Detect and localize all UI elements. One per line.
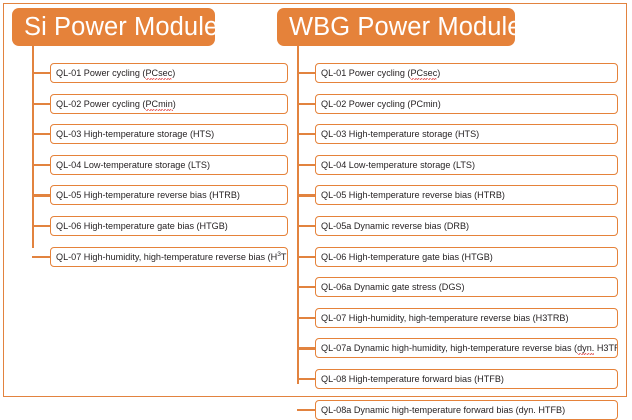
test-item-wbg-8[interactable]: QL-06a Dynamic gate stress (DGS) xyxy=(315,277,618,297)
test-item-si-3[interactable]: QL-03 High-temperature storage (HTS) xyxy=(50,124,288,144)
connector-stub-wbg-12 xyxy=(297,409,317,411)
connector-stub-si-1 xyxy=(32,72,52,74)
test-item-si-1[interactable]: QL-01 Power cycling (PCsec) xyxy=(50,63,288,83)
connector-trunk-si xyxy=(32,46,34,248)
column-header-wbg: WBG Power Module xyxy=(277,8,515,46)
spellcheck-word: PCsec xyxy=(410,68,437,78)
connector-stub-si-4 xyxy=(32,164,52,166)
test-item-si-2[interactable]: QL-02 Power cycling (PCmin) xyxy=(50,94,288,114)
column-header-si: Si Power Module xyxy=(12,8,215,46)
connector-stub-wbg-3 xyxy=(297,133,317,135)
connector-stub-wbg-1 xyxy=(297,72,317,74)
connector-stub-si-6 xyxy=(32,225,52,227)
connector-trunk-wbg xyxy=(297,46,299,384)
test-item-wbg-3[interactable]: QL-03 High-temperature storage (HTS) xyxy=(315,124,618,144)
connector-stub-wbg-11 xyxy=(297,378,317,380)
qualification-test-diagram: Si Power Module WBG Power Module QL-01 P… xyxy=(0,0,632,402)
test-item-wbg-7[interactable]: QL-06 High-temperature gate bias (HTGB) xyxy=(315,247,618,267)
test-item-wbg-1[interactable]: QL-01 Power cycling (PCsec) xyxy=(315,63,618,83)
test-item-wbg-5[interactable]: QL-05 High-temperature reverse bias (HTR… xyxy=(315,185,618,205)
spellcheck-word: PCmin xyxy=(145,99,172,109)
connector-stub-si-2 xyxy=(32,103,52,105)
connector-stub-wbg-7 xyxy=(297,256,317,258)
test-item-wbg-6[interactable]: QL-05a Dynamic reverse bias (DRB) xyxy=(315,216,618,236)
connector-stub-si-7 xyxy=(32,256,52,258)
test-item-si-4[interactable]: QL-04 Low-temperature storage (LTS) xyxy=(50,155,288,175)
connector-stub-wbg-4 xyxy=(297,164,317,166)
connector-stub-wbg-2 xyxy=(297,103,317,105)
connector-stub-wbg-8 xyxy=(297,286,317,288)
test-item-wbg-9[interactable]: QL-07 High-humidity, high-temperature re… xyxy=(315,308,618,328)
test-item-wbg-10[interactable]: QL-07a Dynamic high-humidity, high-tempe… xyxy=(315,338,618,358)
test-item-si-5[interactable]: QL-05 High-temperature reverse bias (HTR… xyxy=(50,185,288,205)
spellcheck-word: dyn. xyxy=(577,343,594,353)
connector-stub-si-5 xyxy=(32,194,52,196)
connector-stub-wbg-5 xyxy=(297,194,317,196)
test-item-wbg-11[interactable]: QL-08 High-temperature forward bias (HTF… xyxy=(315,369,618,389)
test-item-wbg-12[interactable]: QL-08a Dynamic high-temperature forward … xyxy=(315,400,618,420)
connector-stub-wbg-9 xyxy=(297,317,317,319)
connector-stub-wbg-10 xyxy=(297,347,317,349)
test-item-wbg-4[interactable]: QL-04 Low-temperature storage (LTS) xyxy=(315,155,618,175)
spellcheck-word: PCsec xyxy=(145,68,172,78)
connector-stub-wbg-6 xyxy=(297,225,317,227)
test-item-si-6[interactable]: QL-06 High-temperature gate bias (HTGB) xyxy=(50,216,288,236)
test-item-wbg-2[interactable]: QL-02 Power cycling (PCmin) xyxy=(315,94,618,114)
connector-stub-si-3 xyxy=(32,133,52,135)
test-item-si-7[interactable]: QL-07 High-humidity, high-temperature re… xyxy=(50,247,288,267)
